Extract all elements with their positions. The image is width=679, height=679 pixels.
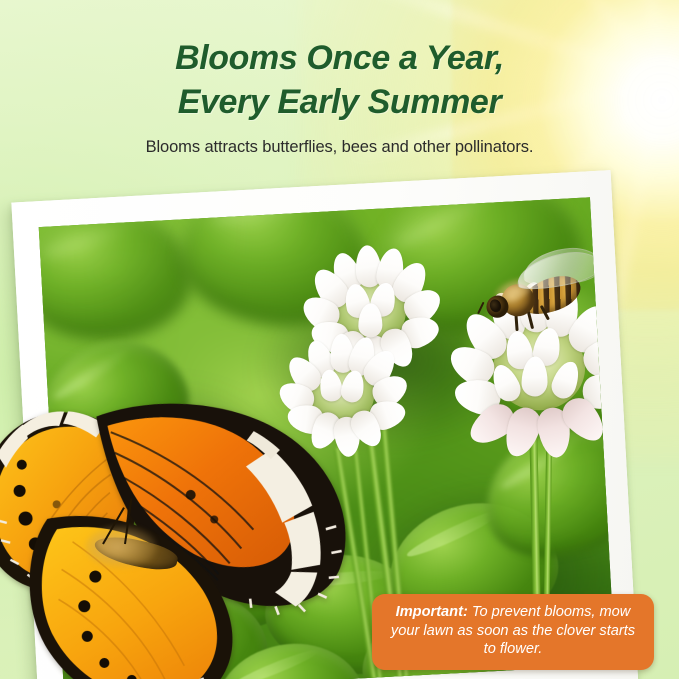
butterfly-thorax-fuzz [86,526,156,568]
callout-label: Important: [396,604,468,620]
poster-canvas: Blooms Once a Year, Every Early Summer B… [0,0,679,679]
butterfly [0,398,354,679]
important-callout: Important: To prevent blooms, mow your l… [372,594,654,670]
subtitle: Blooms attracts butterflies, bees and ot… [0,138,679,157]
